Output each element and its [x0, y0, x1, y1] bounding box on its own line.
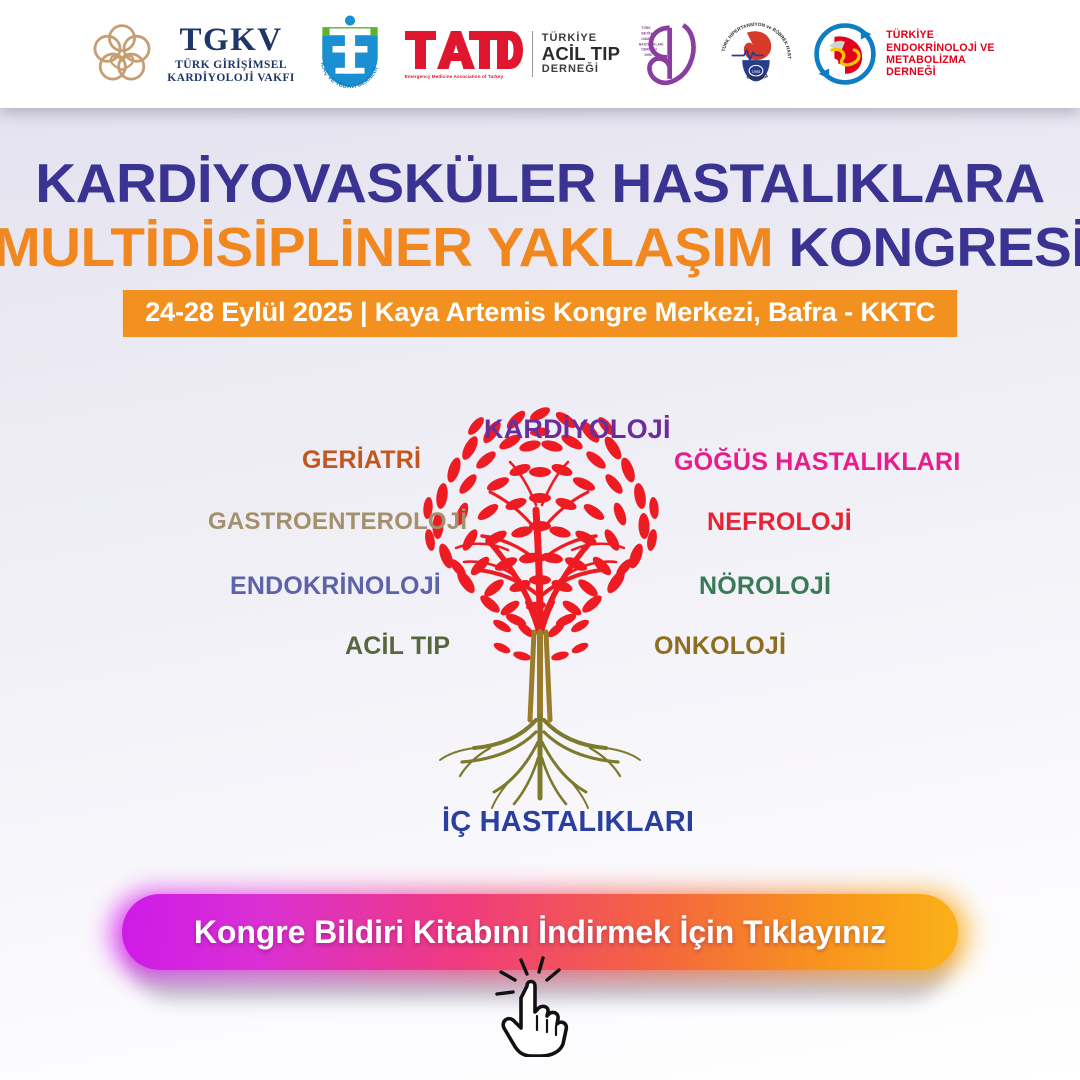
svg-text:DAMAR: DAMAR: [642, 37, 655, 41]
tatd-line2: ACİL TIP: [542, 44, 620, 63]
specialty-label-onkoloji: ONKOLOJİ: [654, 632, 786, 661]
logo-turkiye-endokrinoloji-ve-metabolizma-dernegi[interactable]: TÜRKİYE ENDOKRİNOLOJİ VE METABOLİZMA DER…: [812, 21, 995, 87]
svg-text:1995: 1995: [752, 70, 760, 74]
specialty-label-geriatri: GERİATRİ: [302, 446, 421, 475]
svg-text:BEYİN: BEYİN: [642, 31, 653, 35]
endocrine-head-circle-icon: [812, 21, 878, 87]
tatd-name-block: TÜRKİYE ACİL TIP DERNEĞİ: [542, 33, 620, 76]
tgkv-knot-icon: [89, 21, 155, 87]
specialty-label-gogus-hastaliklari: GÖĞÜS HASTALIKLARI: [674, 448, 960, 477]
ted-line3: METABOLİZMA: [886, 54, 995, 66]
sponsor-logo-bar: TGKV TÜRK GİRİŞİMSEL KARDİYOLOJİ VAKFI İ…: [0, 0, 1080, 108]
tgkv-line2: KARDİYOLOJİ VAKFI: [167, 73, 294, 85]
title-line-2: MULTİDİSİPLİNER YAKLAŞIM KONGRESİ: [0, 216, 1080, 278]
title-line-1: KARDİYOVASKÜLER HASTALIKLARA: [0, 152, 1080, 214]
cta-area: Kongre Bildiri Kitabını İndirmek İçin Tı…: [0, 886, 1080, 1080]
logo-tatd[interactable]: Emergency Medicine Association of Turkey…: [405, 29, 620, 79]
tatd-tagline: Emergency Medicine Association of Turkey: [405, 74, 503, 79]
title-line-2-orange: MULTİDİSİPLİNER YAKLAŞIM: [0, 216, 773, 278]
purple-vessel-loop-icon: TÜRK BEYİN DAMAR HASTALIKLARI DERNEĞİ 19…: [638, 17, 700, 91]
tatd-wordmark: Emergency Medicine Association of Turkey: [405, 29, 523, 79]
tatd-line3: DERNEĞİ: [542, 64, 620, 76]
specialty-label-acil-tip: ACİL TIP: [345, 632, 450, 661]
date-venue-banner: 24-28 Eylül 2025 | Kaya Artemis Kongre M…: [123, 290, 958, 337]
tatd-letters-icon: [405, 29, 523, 71]
svg-text:HASTALIKLARI: HASTALIKLARI: [639, 42, 664, 46]
ted-line1: TÜRKİYE: [886, 29, 995, 41]
tgkv-wordmark: TGKV TÜRK GİRİŞİMSEL KARDİYOLOJİ VAKFI: [167, 24, 294, 84]
logo-turk-hipertansiyon-ve-bobrek-hastaliklari-dernegi[interactable]: 1995 TÜRK HİPERTANSİYON ve BÖBREK HASTAL…: [718, 16, 794, 92]
logo-ilac-ve-tedavi-dernegi[interactable]: İLAÇ VE TEDAVİ DERNEĞİ: [313, 14, 387, 94]
ted-name-block: TÜRKİYE ENDOKRİNOLOJİ VE METABOLİZMA DER…: [886, 29, 995, 78]
specialty-label-ic-hastaliklari: İÇ HASTALIKLARI: [442, 806, 694, 839]
tatd-divider: [532, 31, 533, 77]
tgkv-acronym: TGKV: [179, 24, 282, 57]
congress-title-block: KARDİYOVASKÜLER HASTALIKLARA MULTİDİSİPL…: [0, 152, 1080, 337]
ted-line2: ENDOKRİNOLOJİ VE: [886, 42, 995, 54]
ted-line4: DERNEĞİ: [886, 66, 995, 78]
specialty-label-nefroloji: NEFROLOJİ: [707, 508, 852, 537]
kidney-emblem-icon: 1995 TÜRK HİPERTANSİYON ve BÖBREK HASTAL…: [718, 16, 794, 92]
specialty-label-gastroenteroloji: GASTROENTEROLOJİ: [208, 508, 467, 536]
congress-poster: TGKV TÜRK GİRİŞİMSEL KARDİYOLOJİ VAKFI İ…: [0, 0, 1080, 1080]
specialty-label-endokrinoloji: ENDOKRİNOLOJİ: [230, 572, 441, 601]
svg-text:DERNEĞİ: DERNEĞİ: [642, 47, 657, 52]
svg-text:1996: 1996: [644, 53, 652, 57]
specialty-label-kardiyoloji: KARDİYOLOJİ: [484, 414, 671, 445]
logo-turk-beyin-damar-hastaliklari-dernegi[interactable]: TÜRK BEYİN DAMAR HASTALIKLARI DERNEĞİ 19…: [638, 17, 700, 91]
specialty-label-noroloji: NÖROLOJİ: [699, 572, 831, 601]
logo-tgkv[interactable]: TGKV TÜRK GİRİŞİMSEL KARDİYOLOJİ VAKFI: [89, 21, 294, 87]
svg-text:TÜRK: TÜRK: [642, 25, 652, 30]
pointing-hand-click-icon: [489, 952, 585, 1057]
title-line-2-blue: KONGRESİ: [788, 216, 1080, 278]
tgkv-line1: TÜRK GİRİŞİMSEL: [175, 60, 287, 72]
pharmacy-shield-icon: İLAÇ VE TEDAVİ DERNEĞİ: [313, 14, 387, 94]
